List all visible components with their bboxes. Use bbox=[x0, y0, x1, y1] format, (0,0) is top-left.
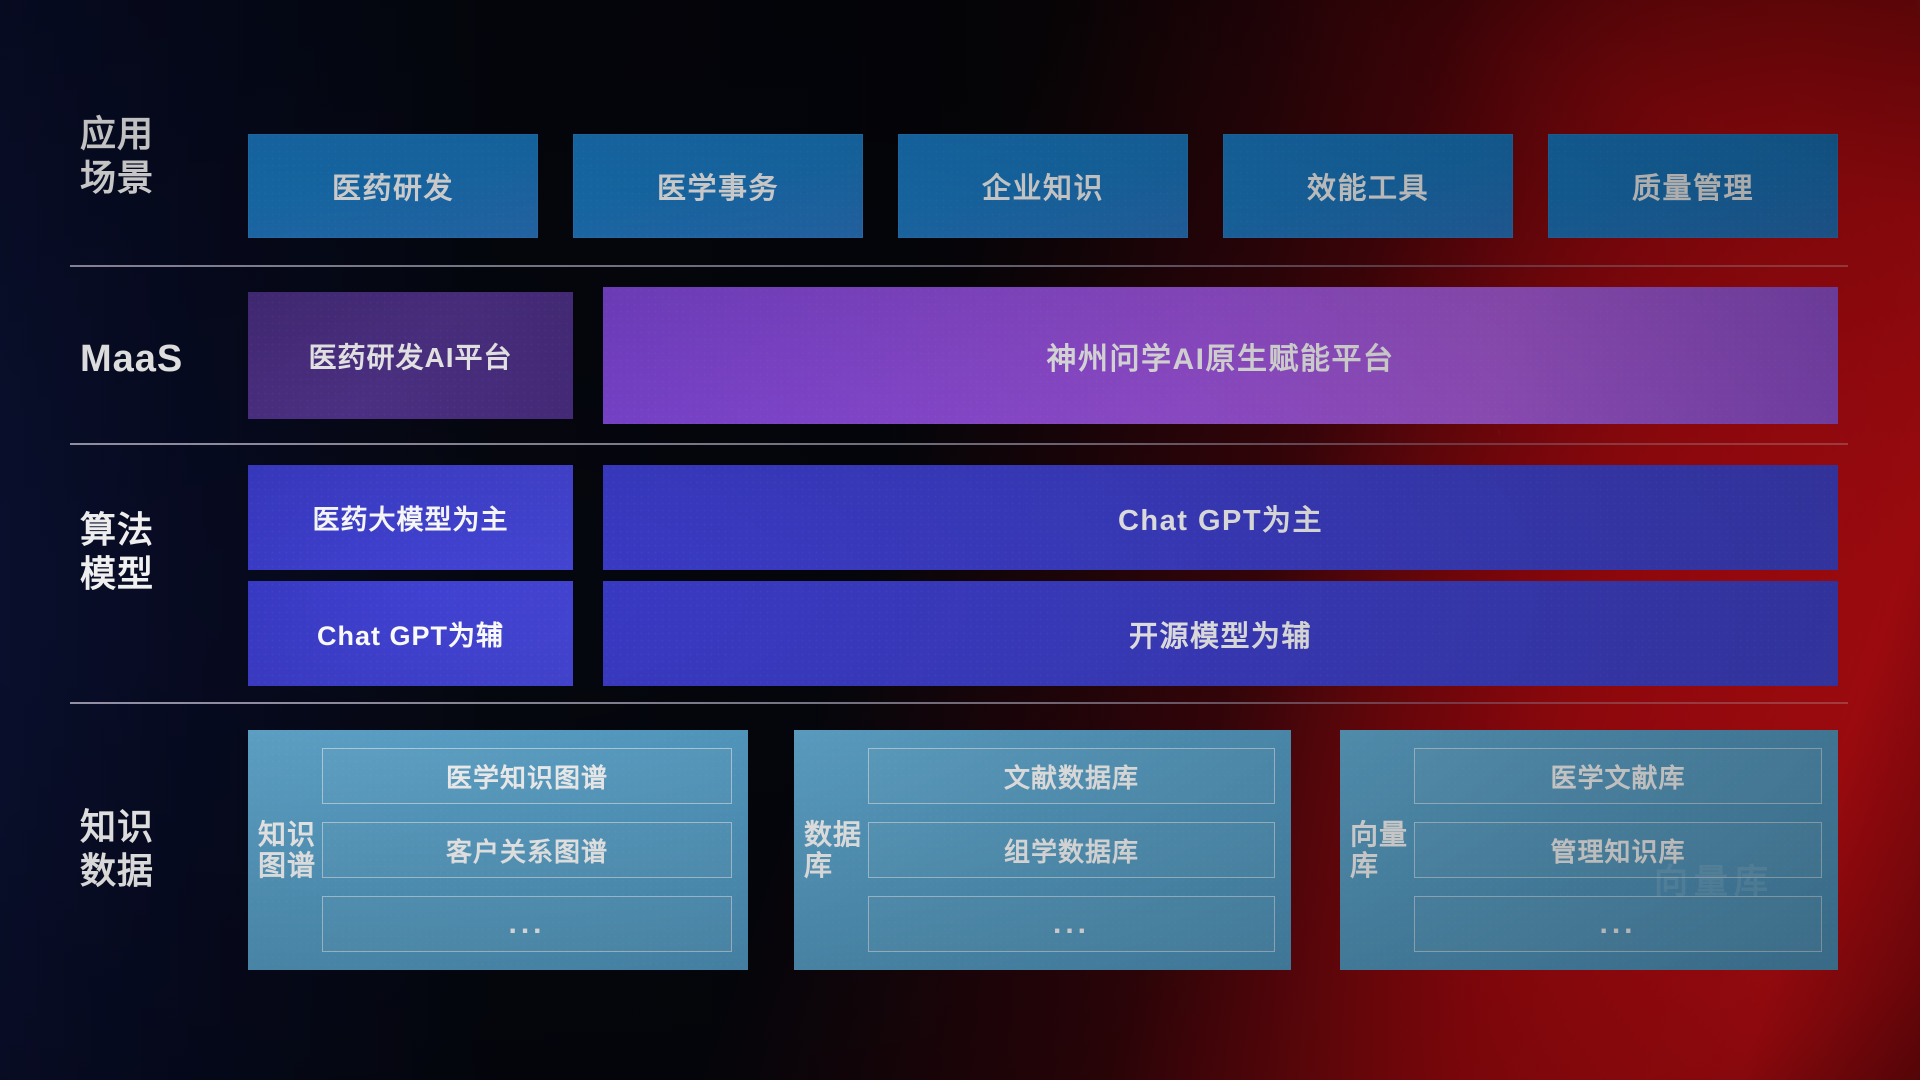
knowledge-item[interactable]: 文献数据库 bbox=[868, 748, 1275, 804]
algo-label: 开源模型为辅 bbox=[1129, 613, 1312, 655]
maas-platform-label: 医药研发AI平台 bbox=[308, 336, 512, 376]
app-scenario-label: 效能工具 bbox=[1307, 165, 1429, 207]
algo-box-pharma-primary[interactable]: 医药大模型为主 bbox=[248, 465, 573, 570]
row-label-line: MaaS bbox=[80, 336, 230, 382]
knowledge-group-graph[interactable]: 知识图谱 医学知识图谱 客户关系图谱 ... bbox=[248, 730, 748, 970]
knowledge-group-database[interactable]: 数据库 文献数据库 组学数据库 ... bbox=[794, 730, 1291, 970]
algo-box-opensource-secondary[interactable]: 开源模型为辅 bbox=[603, 581, 1838, 686]
knowledge-item[interactable]: 医学知识图谱 bbox=[322, 748, 732, 804]
knowledge-item-list: 医学文献库 管理知识库 ... bbox=[1412, 742, 1824, 958]
knowledge-group-vector[interactable]: 向量库 向量库 医学文献库 管理知识库 ... bbox=[1340, 730, 1838, 970]
knowledge-item[interactable]: 医学文献库 bbox=[1414, 748, 1822, 804]
knowledge-item-more[interactable]: ... bbox=[868, 896, 1275, 952]
row-label-line: 数据 bbox=[80, 849, 230, 893]
app-scenario-label: 质量管理 bbox=[1632, 165, 1754, 207]
app-scenario-box-1[interactable]: 医药研发 bbox=[248, 134, 538, 238]
diagram-canvas: 应用 场景 医药研发 医学事务 企业知识 效能工具 质量管理 MaaS bbox=[0, 0, 1920, 1080]
algo-box-chatgpt-primary[interactable]: Chat GPT为主 bbox=[603, 465, 1838, 570]
knowledge-group-vertical-label: 知识图谱 bbox=[258, 742, 320, 958]
app-scenario-box-2[interactable]: 医学事务 bbox=[573, 134, 863, 238]
knowledge-item[interactable]: 组学数据库 bbox=[868, 822, 1275, 878]
maas-platform-box-shenzhou[interactable]: 神州问学AI原生赋能平台 bbox=[603, 287, 1838, 424]
knowledge-item-list: 医学知识图谱 客户关系图谱 ... bbox=[320, 742, 734, 958]
row-label-line: 知识 bbox=[80, 805, 230, 849]
app-scenario-label: 医药研发 bbox=[332, 165, 454, 207]
app-scenario-box-4[interactable]: 效能工具 bbox=[1223, 134, 1513, 238]
divider-2 bbox=[70, 443, 1848, 445]
divider-3 bbox=[70, 702, 1848, 704]
algo-label: 医药大模型为主 bbox=[313, 498, 509, 537]
row-label-line: 应用 bbox=[80, 112, 230, 156]
knowledge-item-list: 文献数据库 组学数据库 ... bbox=[866, 742, 1277, 958]
row-label-line: 场景 bbox=[80, 156, 230, 200]
row-label-knowledge-data: 知识 数据 bbox=[80, 805, 230, 893]
app-scenario-box-5[interactable]: 质量管理 bbox=[1548, 134, 1838, 238]
maas-platform-box-pharma[interactable]: 医药研发AI平台 bbox=[248, 292, 573, 419]
knowledge-group-vertical-label: 数据库 bbox=[804, 742, 866, 958]
app-scenario-label: 企业知识 bbox=[982, 165, 1104, 207]
divider-1 bbox=[70, 265, 1848, 267]
algo-box-chatgpt-secondary[interactable]: Chat GPT为辅 bbox=[248, 581, 573, 686]
knowledge-item[interactable]: 客户关系图谱 bbox=[322, 822, 732, 878]
algo-label: Chat GPT为主 bbox=[1118, 497, 1323, 539]
algo-label: Chat GPT为辅 bbox=[317, 614, 504, 653]
row-label-algorithm-model: 算法 模型 bbox=[80, 508, 230, 596]
app-scenario-box-3[interactable]: 企业知识 bbox=[898, 134, 1188, 238]
row-label-application-scenarios: 应用 场景 bbox=[80, 112, 230, 200]
knowledge-group-vertical-label: 向量库 bbox=[1350, 742, 1412, 958]
row-label-line: 算法 bbox=[80, 508, 230, 552]
maas-platform-label: 神州问学AI原生赋能平台 bbox=[1047, 334, 1395, 378]
knowledge-item-more[interactable]: ... bbox=[1414, 896, 1822, 952]
row-label-line: 模型 bbox=[80, 552, 230, 596]
app-scenario-label: 医学事务 bbox=[657, 165, 779, 207]
knowledge-item-more[interactable]: ... bbox=[322, 896, 732, 952]
row-label-maas: MaaS bbox=[80, 336, 230, 382]
knowledge-item[interactable]: 管理知识库 bbox=[1414, 822, 1822, 878]
